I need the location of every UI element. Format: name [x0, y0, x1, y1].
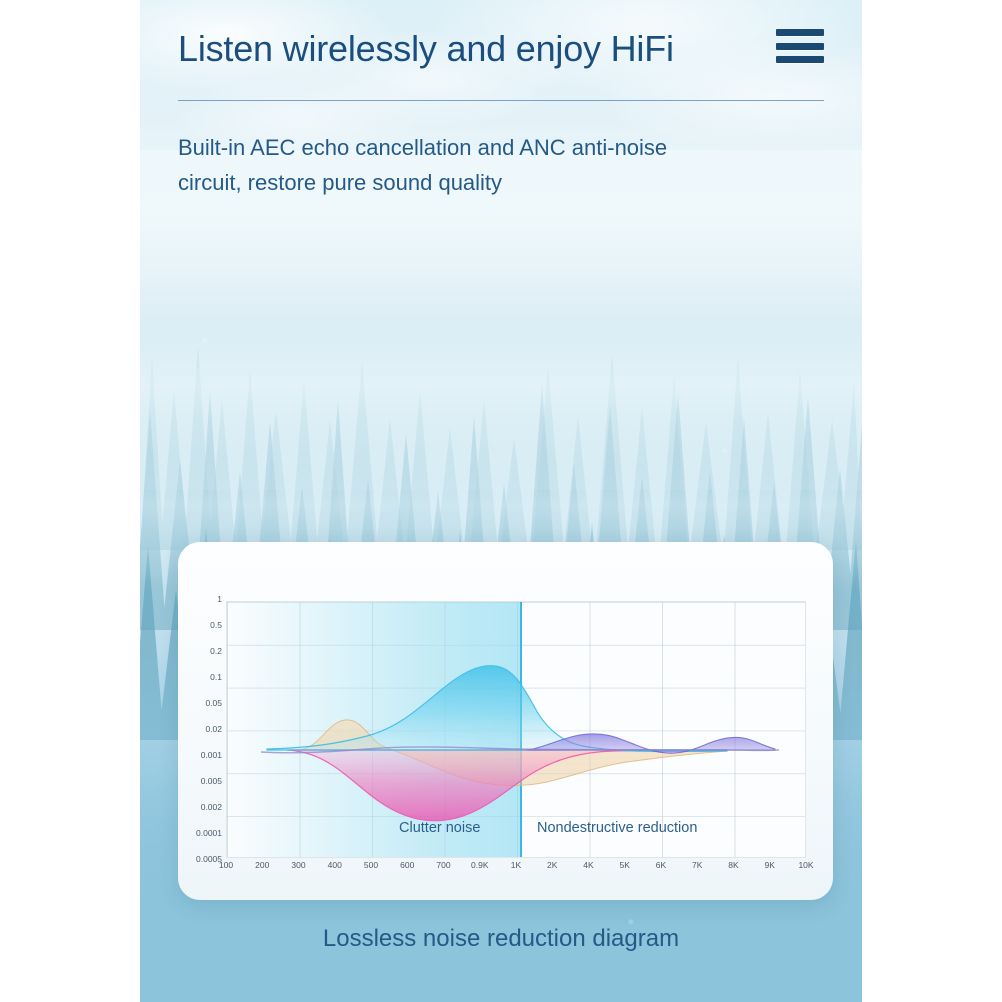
chart-waveforms: [227, 602, 806, 858]
hamburger-bar-2: [776, 43, 824, 50]
page-root: Listen wirelessly and enjoy HiFi Built-i…: [0, 0, 1002, 1002]
hamburger-bar-1: [776, 29, 824, 36]
y-axis-tick: 0.05: [205, 698, 222, 708]
x-axis-tick: 100: [219, 860, 233, 870]
x-axis-tick: 500: [364, 860, 378, 870]
page-title: Listen wirelessly and enjoy HiFi: [178, 28, 674, 70]
x-axis-tick: 4K: [583, 860, 593, 870]
y-axis-tick: 0.001: [201, 750, 222, 760]
y-axis-tick: 0.2: [210, 646, 222, 656]
wave-pink-lobe: [287, 750, 727, 821]
hamburger-bar-3: [776, 56, 824, 63]
title-divider: [178, 100, 824, 101]
subtitle-line-2: circuit, restore pure sound quality: [178, 165, 778, 200]
x-axis-tick: 700: [436, 860, 450, 870]
clutter-noise-label: Clutter noise: [399, 820, 480, 836]
x-axis-tick: 10K: [798, 860, 813, 870]
x-axis-tick: 7K: [692, 860, 702, 870]
content-column: Listen wirelessly and enjoy HiFi Built-i…: [140, 0, 862, 1002]
chart-y-axis: 10.50.20.10.050.020.0010.0050.0020.00010…: [178, 542, 226, 900]
chart-card: 10.50.20.10.050.020.0010.0050.0020.00010…: [178, 542, 833, 900]
x-axis-tick: 0.9K: [471, 860, 489, 870]
y-axis-tick: 0.0001: [196, 828, 222, 838]
y-axis-tick: 0.005: [201, 776, 222, 786]
chart-caption: Lossless noise reduction diagram: [140, 925, 862, 953]
header: Listen wirelessly and enjoy HiFi: [140, 0, 862, 120]
x-axis-tick: 200: [255, 860, 269, 870]
x-axis-tick: 2K: [547, 860, 557, 870]
hamburger-menu-icon[interactable]: [776, 26, 824, 66]
x-axis-tick: 600: [400, 860, 414, 870]
x-axis-tick: 1K: [511, 860, 521, 870]
nondestructive-reduction-label: Nondestructive reduction: [537, 820, 697, 836]
subtitle-line-1: Built-in AEC echo cancellation and ANC a…: [178, 130, 778, 165]
y-axis-tick: 1: [217, 594, 222, 604]
y-axis-tick: 0.002: [201, 802, 222, 812]
x-axis-tick: 6K: [656, 860, 666, 870]
y-axis-tick: 0.02: [205, 724, 222, 734]
y-axis-tick: 0.5: [210, 620, 222, 630]
x-axis-tick: 400: [328, 860, 342, 870]
x-axis-tick: 8K: [728, 860, 738, 870]
x-axis-tick: 300: [291, 860, 305, 870]
x-axis-tick: 5K: [620, 860, 630, 870]
y-axis-tick: 0.1: [210, 672, 222, 682]
chart-x-axis: 1002003004005006007000.9K1K2K4K5K6K7K8K9…: [226, 860, 806, 876]
x-axis-tick: 9K: [765, 860, 775, 870]
subtitle-text: Built-in AEC echo cancellation and ANC a…: [178, 130, 778, 200]
chart-plot-area: Clutter noise Nondestructive reduction: [226, 601, 806, 858]
